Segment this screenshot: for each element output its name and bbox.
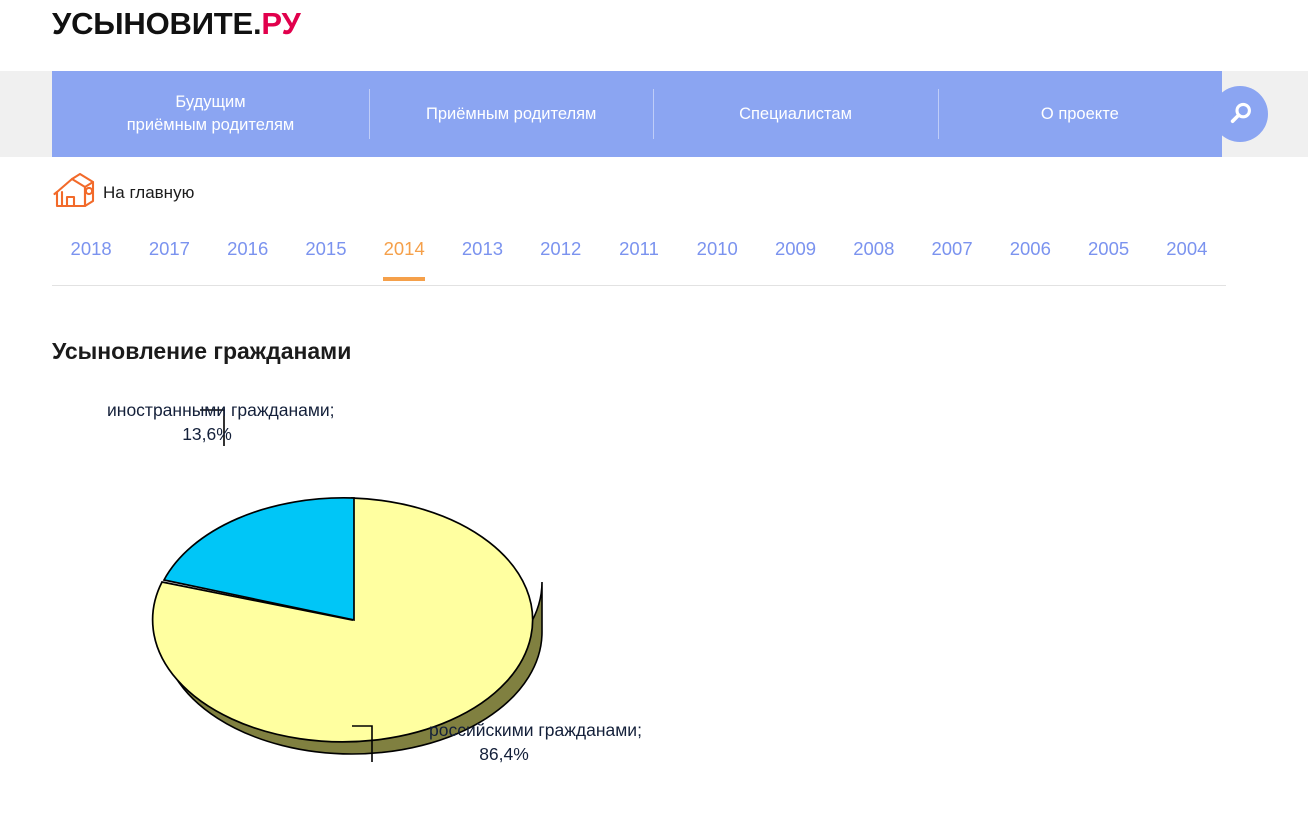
nav-item-label: О проекте	[1041, 103, 1119, 126]
year-tab-2017[interactable]: 2017	[130, 234, 208, 260]
year-tab-2011[interactable]: 2011	[600, 234, 678, 260]
year-tab-2016[interactable]: 2016	[209, 234, 287, 260]
year-tab-2008[interactable]: 2008	[835, 234, 913, 260]
search-button[interactable]	[1212, 86, 1268, 142]
year-tab-2015[interactable]: 2015	[287, 234, 365, 260]
year-tab-2018[interactable]: 2018	[52, 234, 130, 260]
pie-label-russian-value: 86,4%	[429, 742, 579, 766]
year-tab-2005[interactable]: 2005	[1069, 234, 1147, 260]
nav-item-future-foster-parents[interactable]: Будущим приёмным родителям	[52, 71, 369, 157]
house-icon	[52, 172, 96, 214]
nav-item-line1: Будущим	[175, 93, 245, 111]
nav-item-line2: приёмным родителям	[127, 116, 295, 134]
pie-label-russian-text: российскими гражданами;	[429, 720, 642, 740]
year-tab-2009[interactable]: 2009	[756, 234, 834, 260]
year-tab-2004[interactable]: 2004	[1148, 234, 1226, 260]
pie-label-foreign-value: 13,6%	[107, 422, 307, 446]
year-tab-2013[interactable]: 2013	[443, 234, 521, 260]
nav-item-foster-parents[interactable]: Приёмным родителям	[369, 71, 653, 157]
nav-item-label: Специалистам	[739, 103, 852, 126]
logo-accent-text: РУ	[261, 6, 300, 41]
nav-item-about-project[interactable]: О проекте	[938, 71, 1222, 157]
pie-label-foreign-text: иностранными гражданами;	[107, 400, 335, 420]
nav-item-specialists[interactable]: Специалистам	[653, 71, 937, 157]
chart-title: Усыновление гражданами	[52, 334, 351, 368]
home-link-label: На главную	[103, 172, 194, 214]
nav-item-label: Приёмным родителям	[426, 103, 596, 126]
year-tab-2006[interactable]: 2006	[991, 234, 1069, 260]
search-icon	[1225, 99, 1255, 129]
pie-label-russian: российскими гражданами; 86,4%	[429, 718, 629, 766]
site-logo[interactable]: УСЫНОВИТЕ.РУ	[52, 2, 301, 46]
year-tab-2007[interactable]: 2007	[913, 234, 991, 260]
pie-chart: иностранными гражданами; 13,6% российски…	[52, 370, 752, 810]
main-navigation: Будущим приёмным родителям Приёмным роди…	[52, 71, 1222, 157]
pie-label-foreign: иностранными гражданами; 13,6%	[107, 398, 307, 446]
year-tab-2012[interactable]: 2012	[522, 234, 600, 260]
nav-item-label: Будущим приёмным родителям	[127, 91, 295, 137]
year-tab-2010[interactable]: 2010	[678, 234, 756, 260]
home-link[interactable]: На главную	[52, 172, 194, 214]
year-tabs: 2018 2017 2016 2015 2014 2013 2012 2011 …	[52, 234, 1226, 286]
logo-main-text: УСЫНОВИТЕ.	[52, 6, 261, 41]
year-tab-2014[interactable]: 2014	[365, 234, 443, 260]
year-tabs-divider	[52, 285, 1226, 286]
